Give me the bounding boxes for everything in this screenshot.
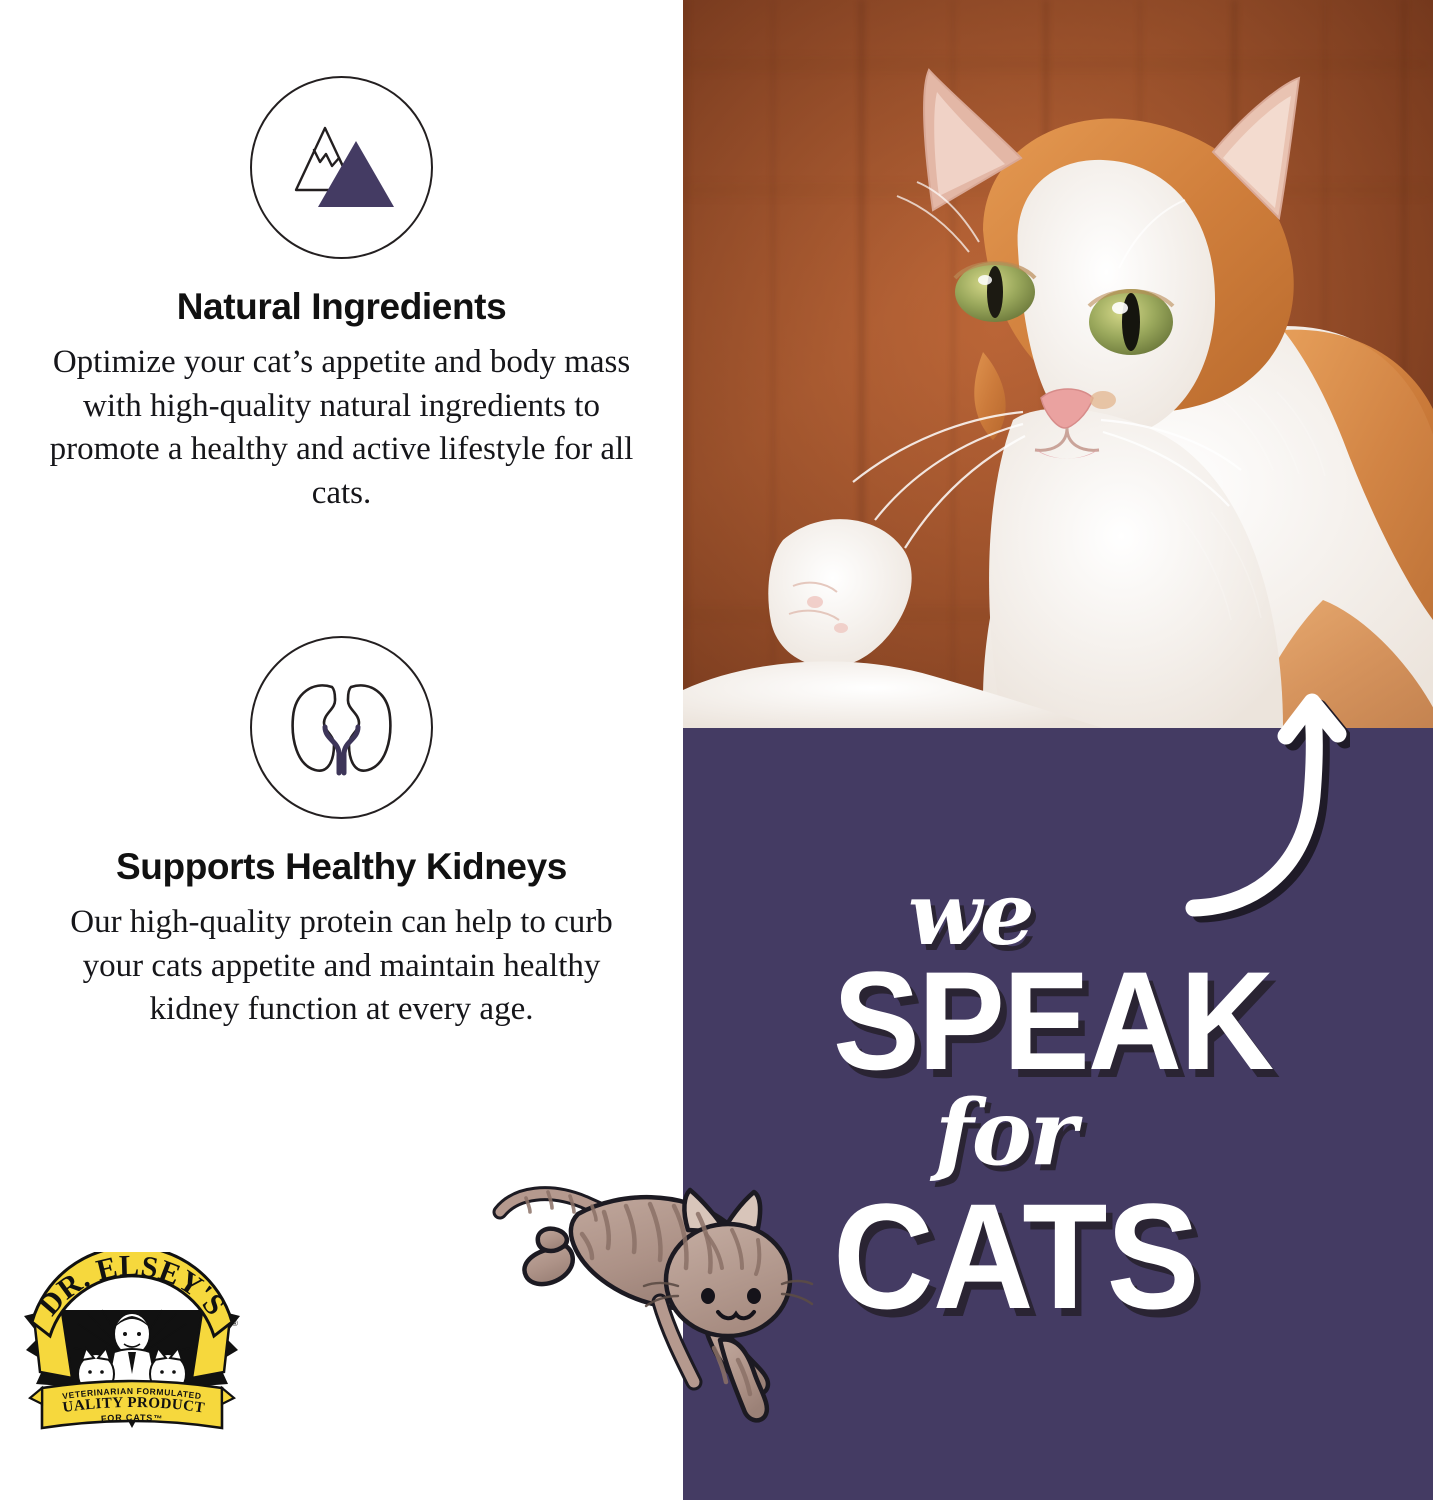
dr-elseys-logo: DR. ELSEY'S ® bbox=[18, 1252, 246, 1432]
feature-description: Our high-quality protein can help to cur… bbox=[57, 901, 627, 1033]
registered-mark: ® bbox=[232, 1319, 238, 1328]
mountains-icon-circle bbox=[250, 76, 433, 259]
kidneys-icon bbox=[279, 673, 404, 783]
curved-arrow-graphic bbox=[1180, 676, 1350, 926]
slogan-line-for: for bbox=[935, 1080, 1075, 1186]
cat-photo-graphic bbox=[683, 0, 1433, 728]
feature-description: Optimize your cat’s appetite and body ma… bbox=[32, 341, 652, 517]
mountains-icon bbox=[277, 115, 407, 220]
feature-healthy-kidneys: Supports Healthy Kidneys Our high-qualit… bbox=[0, 636, 683, 1032]
feature-title: Natural Ingredients bbox=[0, 287, 683, 328]
logo-banner-line3: FOR CATS™ bbox=[101, 1412, 164, 1423]
slogan-line-we: we bbox=[908, 864, 1033, 965]
kidneys-icon-circle bbox=[250, 636, 433, 819]
slogan-line-cats: CATS bbox=[833, 1170, 1199, 1343]
dr-elseys-logo-graphic: DR. ELSEY'S ® bbox=[18, 1252, 246, 1432]
leaping-cat-graphic bbox=[492, 1178, 832, 1446]
orange-and-white-cat-photo bbox=[683, 0, 1433, 728]
feature-natural-ingredients: Natural Ingredients Optimize your cat’s … bbox=[0, 76, 683, 516]
leaping-tabby-cat-illustration bbox=[492, 1178, 832, 1446]
feature-title: Supports Healthy Kidneys bbox=[0, 847, 683, 888]
slogan-line-speak: SPEAK bbox=[833, 940, 1272, 1102]
curved-up-arrow-icon bbox=[1180, 676, 1350, 926]
